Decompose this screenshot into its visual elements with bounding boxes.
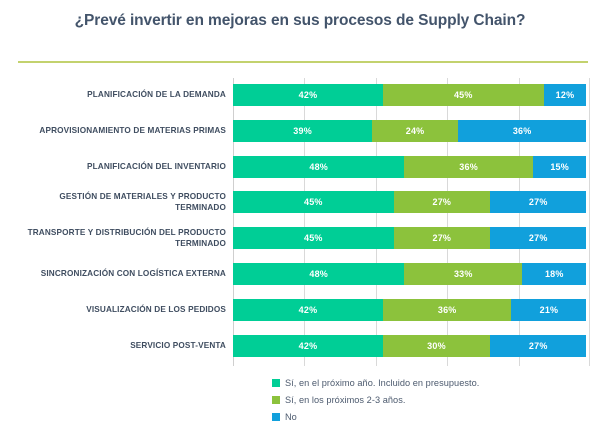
bar-track: 42%36%21% — [233, 299, 590, 321]
legend-item[interactable]: No — [272, 409, 592, 425]
bar-value-label: 33% — [454, 269, 473, 279]
bar-value-label: 27% — [433, 197, 452, 207]
legend-swatch-icon — [272, 379, 280, 387]
bar-segment[interactable]: 42% — [233, 299, 383, 321]
bar-track: 42%45%12% — [233, 84, 590, 106]
bar-value-label: 18% — [545, 269, 564, 279]
bar-value-label: 42% — [299, 341, 318, 351]
bar-value-label: 48% — [309, 162, 328, 172]
bar-segment[interactable]: 27% — [490, 227, 586, 249]
bar-value-label: 48% — [309, 269, 328, 279]
bar-value-label: 27% — [529, 233, 548, 243]
category-label: PLANIFICACIÓN DE LA DEMANDA — [8, 80, 226, 110]
bar-segment[interactable]: 33% — [404, 263, 522, 285]
bar-track: 42%30%27% — [233, 335, 590, 357]
bar-rows: PLANIFICACIÓN DE LA DEMANDA42%45%12%APRO… — [0, 78, 600, 366]
bar-value-label: 27% — [433, 233, 452, 243]
legend-swatch-icon — [272, 413, 280, 421]
category-label: TRANSPORTE Y DISTRIBUCIÓN DEL PRODUCTO T… — [8, 223, 226, 253]
category-label: VISUALIZACIÓN DE LOS PEDIDOS — [8, 295, 226, 325]
bar-segment[interactable]: 42% — [233, 335, 383, 357]
bar-value-label: 27% — [529, 197, 548, 207]
category-label: APROVISIONAMIENTO DE MATERIAS PRIMAS — [8, 116, 226, 146]
chart-title: ¿Prevé invertir en mejoras en sus proces… — [0, 12, 600, 30]
bar-value-label: 27% — [529, 341, 548, 351]
bar-value-label: 45% — [304, 233, 323, 243]
bar-value-label: 24% — [406, 126, 425, 136]
bar-segment[interactable]: 27% — [394, 191, 490, 213]
legend-label: Sí, en los próximos 2-3 años. — [285, 395, 405, 405]
bar-row: APROVISIONAMIENTO DE MATERIAS PRIMAS39%2… — [0, 116, 600, 146]
bar-segment[interactable]: 45% — [383, 84, 544, 106]
bar-row: SERVICIO POST-VENTA42%30%27% — [0, 331, 600, 361]
bar-value-label: 36% — [438, 305, 457, 315]
bar-segment[interactable]: 21% — [511, 299, 586, 321]
bar-segment[interactable]: 45% — [233, 191, 394, 213]
bar-track: 39%24%36% — [233, 120, 590, 142]
bar-row: TRANSPORTE Y DISTRIBUCIÓN DEL PRODUCTO T… — [0, 223, 600, 253]
category-label: SERVICIO POST-VENTA — [8, 331, 226, 361]
category-label: SINCRONIZACIÓN CON LOGÍSTICA EXTERNA — [8, 259, 226, 289]
bar-segment[interactable]: 30% — [383, 335, 490, 357]
bar-segment[interactable]: 36% — [404, 156, 533, 178]
bar-segment[interactable]: 42% — [233, 84, 383, 106]
bar-segment[interactable]: 36% — [383, 299, 512, 321]
bar-value-label: 42% — [299, 90, 318, 100]
bar-row: GESTIÓN DE MATERIALES Y PRODUCTO TERMINA… — [0, 187, 600, 217]
chart-legend: Sí, en el próximo año. Incluido en presu… — [272, 375, 592, 426]
bar-value-label: 36% — [459, 162, 478, 172]
bar-segment[interactable]: 27% — [490, 335, 586, 357]
bar-row: PLANIFICACIÓN DEL INVENTARIO48%36%15% — [0, 152, 600, 182]
category-label: PLANIFICACIÓN DEL INVENTARIO — [8, 152, 226, 182]
bar-value-label: 21% — [540, 305, 559, 315]
bar-track: 48%33%18% — [233, 263, 590, 285]
bar-value-label: 30% — [427, 341, 446, 351]
bar-track: 48%36%15% — [233, 156, 590, 178]
legend-item[interactable]: Sí, en los próximos 2-3 años. — [272, 392, 592, 408]
bar-track: 45%27%27% — [233, 227, 590, 249]
bar-segment[interactable]: 27% — [490, 191, 586, 213]
bar-value-label: 45% — [304, 197, 323, 207]
bar-value-label: 42% — [299, 305, 318, 315]
title-divider — [18, 61, 588, 63]
bar-segment[interactable]: 36% — [458, 120, 587, 142]
legend-label: Sí, en el próximo año. Incluido en presu… — [285, 378, 479, 388]
bar-track: 45%27%27% — [233, 191, 590, 213]
bar-segment[interactable]: 12% — [544, 84, 587, 106]
bar-row: PLANIFICACIÓN DE LA DEMANDA42%45%12% — [0, 80, 600, 110]
bar-segment[interactable]: 24% — [372, 120, 458, 142]
legend-label: No — [285, 412, 297, 422]
bar-segment[interactable]: 48% — [233, 263, 404, 285]
bar-value-label: 12% — [556, 90, 575, 100]
legend-swatch-icon — [272, 396, 280, 404]
bar-row: VISUALIZACIÓN DE LOS PEDIDOS42%36%21% — [0, 295, 600, 325]
bar-value-label: 36% — [513, 126, 532, 136]
bar-segment[interactable]: 27% — [394, 227, 490, 249]
bar-segment[interactable]: 45% — [233, 227, 394, 249]
chart-card: ¿Prevé invertir en mejoras en sus proces… — [0, 0, 600, 432]
bar-segment[interactable]: 18% — [522, 263, 586, 285]
bar-value-label: 15% — [550, 162, 569, 172]
bar-segment[interactable]: 48% — [233, 156, 404, 178]
bar-value-label: 45% — [454, 90, 473, 100]
bar-segment[interactable]: 15% — [533, 156, 587, 178]
bar-row: SINCRONIZACIÓN CON LOGÍSTICA EXTERNA48%3… — [0, 259, 600, 289]
bar-segment[interactable]: 39% — [233, 120, 372, 142]
legend-item[interactable]: Sí, en el próximo año. Incluido en presu… — [272, 375, 592, 391]
bar-value-label: 39% — [293, 126, 312, 136]
plot-area: PLANIFICACIÓN DE LA DEMANDA42%45%12%APRO… — [0, 78, 600, 366]
category-label: GESTIÓN DE MATERIALES Y PRODUCTO TERMINA… — [8, 187, 226, 217]
